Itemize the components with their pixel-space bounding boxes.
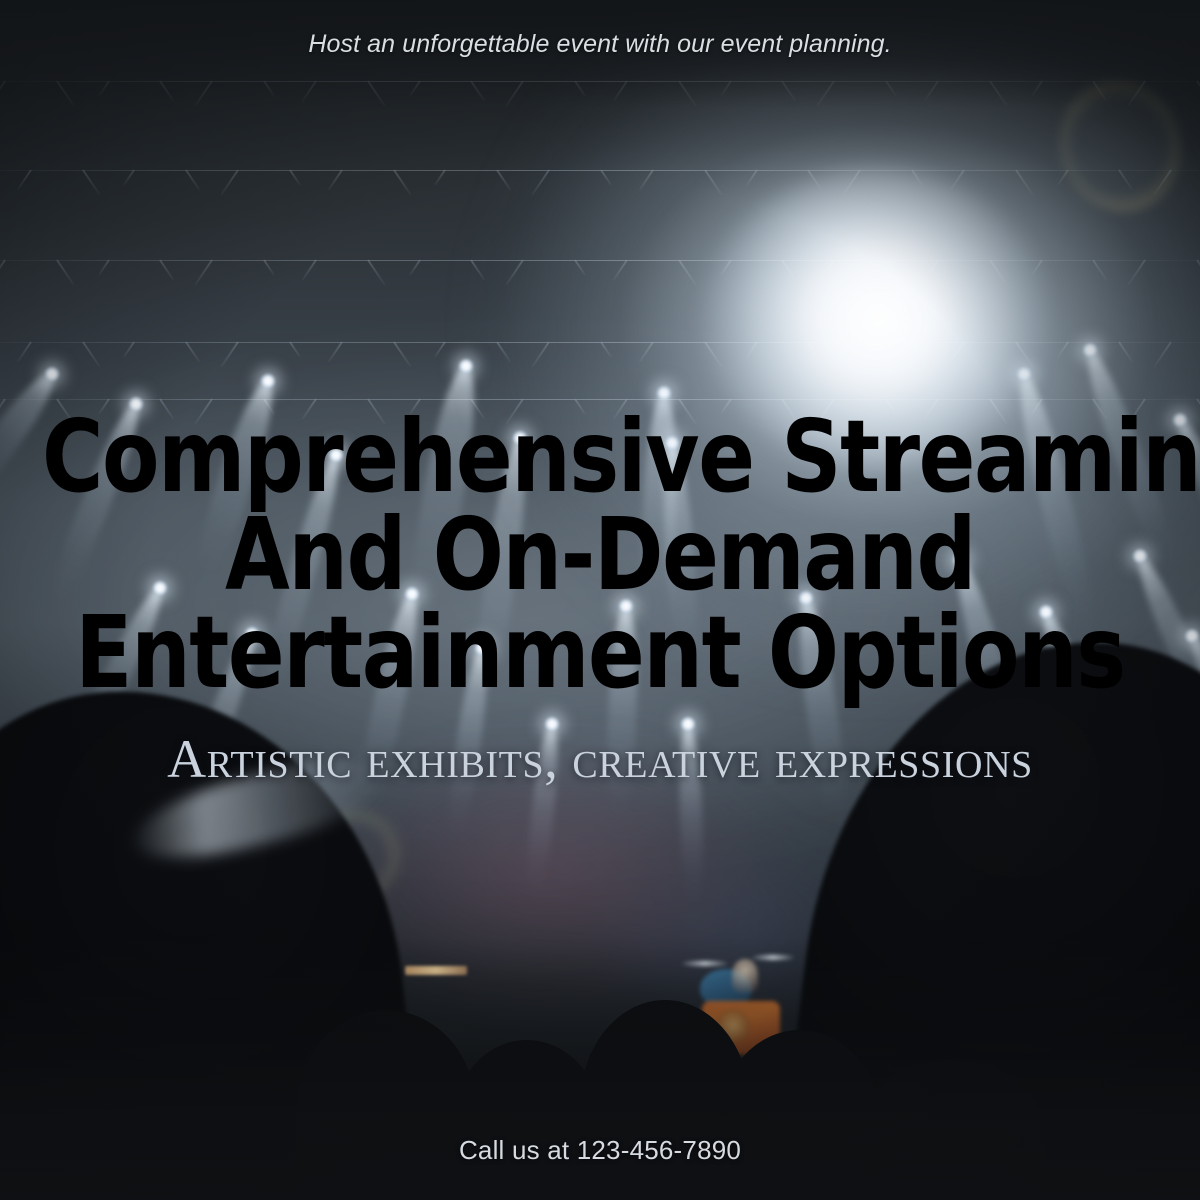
headline-line-3: Entertainment Options [42, 604, 1158, 702]
tagline: Host an unforgettable event with our eve… [0, 30, 1200, 59]
poster-content: Host an unforgettable event with our eve… [0, 0, 1200, 1200]
contact-phone: Call us at 123-456-7890 [0, 1135, 1200, 1166]
page-title: Comprehensive Streaming And On-Demand En… [42, 408, 1158, 702]
headline-line-2: And On-Demand [42, 506, 1158, 604]
event-promo-poster: Host an unforgettable event with our eve… [0, 0, 1200, 1200]
headline-line-1: Comprehensive Streaming [42, 408, 1158, 506]
subtitle: Artistic exhibits, creative expressions [0, 728, 1200, 790]
